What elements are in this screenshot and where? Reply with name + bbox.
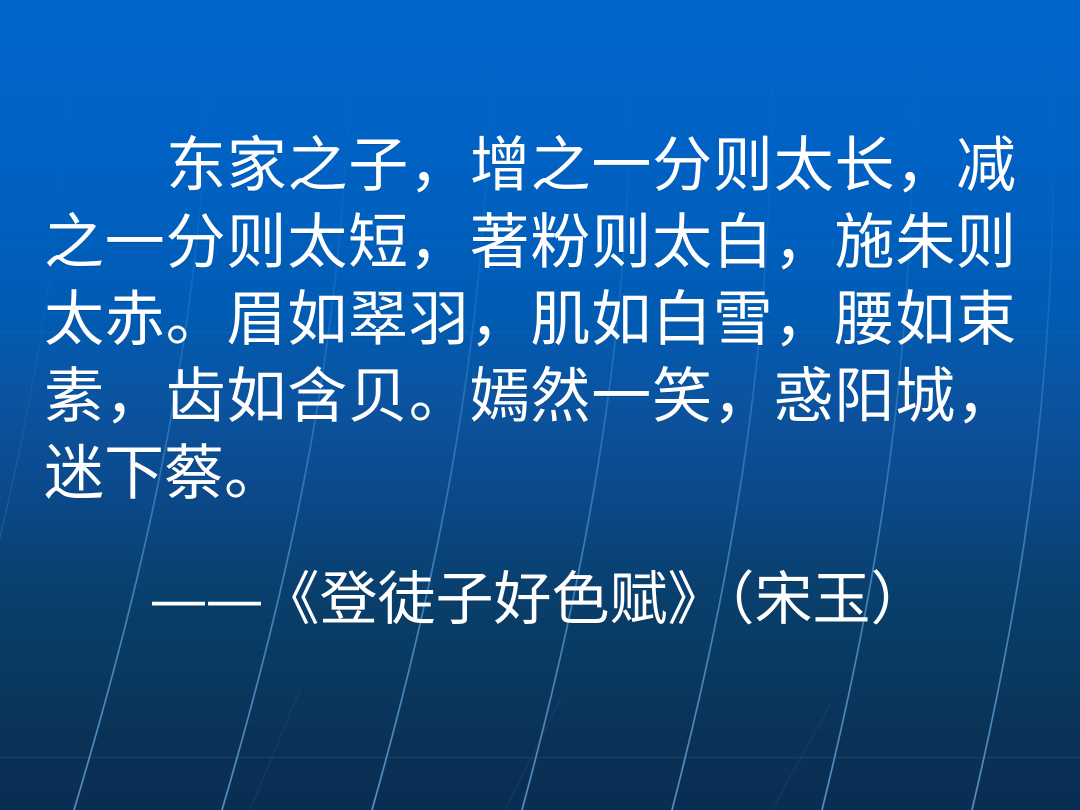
slide-attribution: ——《登徒子好色赋》（宋玉）: [44, 562, 1034, 636]
slide-canvas: 东家之子，增之一分则太长，减之一分则太短，著粉则太白，施朱则太赤。眉如翠羽，肌如…: [0, 0, 1080, 810]
attribution-author: （宋玉）: [726, 565, 929, 633]
attribution-em-dash: ——: [149, 565, 261, 633]
slide-body-paragraph: 东家之子，增之一分则太长，减之一分则太短，著粉则太白，施朱则太赤。眉如翠羽，肌如…: [44, 128, 1016, 513]
attribution-source-title: 《登徒子好色赋》: [261, 565, 725, 633]
